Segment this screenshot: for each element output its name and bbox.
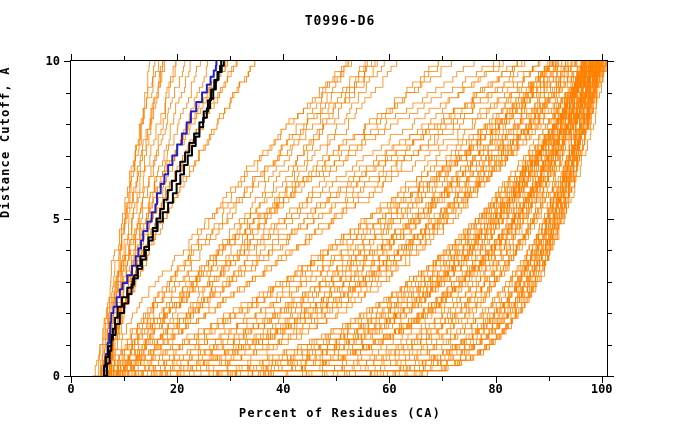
x-tick-label: 0 bbox=[67, 382, 74, 396]
y-tick-minor bbox=[607, 187, 612, 188]
x-tick-minor bbox=[124, 376, 125, 381]
x-tick-minor bbox=[549, 376, 550, 381]
y-tick-minor bbox=[66, 345, 71, 346]
x-tick-label: 40 bbox=[276, 382, 290, 396]
x-tick-label: 60 bbox=[382, 382, 396, 396]
x-tick-major bbox=[389, 54, 390, 61]
x-tick-label: 100 bbox=[591, 382, 613, 396]
y-tick-minor bbox=[607, 282, 612, 283]
y-tick-minor bbox=[66, 313, 71, 314]
x-tick-minor bbox=[124, 56, 125, 61]
y-tick-minor bbox=[607, 250, 612, 251]
x-axis-title: Percent of Residues (CA) bbox=[0, 406, 680, 420]
gdt-plot-page: T0996-D6 0510 020406080100 Distance Cuto… bbox=[0, 0, 680, 440]
y-tick-minor bbox=[66, 282, 71, 283]
plot-area: 0510 020406080100 bbox=[70, 60, 608, 377]
x-tick-major bbox=[602, 54, 603, 61]
y-tick-minor bbox=[66, 124, 71, 125]
x-tick-major bbox=[71, 54, 72, 61]
y-tick-major bbox=[64, 219, 71, 220]
y-tick-label: 0 bbox=[53, 369, 60, 383]
page-title: T0996-D6 bbox=[0, 14, 680, 29]
y-tick-major bbox=[607, 376, 614, 377]
y-tick-minor bbox=[66, 187, 71, 188]
x-tick-label: 80 bbox=[488, 382, 502, 396]
x-tick-label: 20 bbox=[170, 382, 184, 396]
x-tick-major bbox=[177, 54, 178, 61]
background-model-curves bbox=[92, 61, 607, 376]
x-tick-major bbox=[496, 54, 497, 61]
y-tick-minor bbox=[607, 93, 612, 94]
y-tick-major bbox=[607, 219, 614, 220]
y-tick-minor bbox=[607, 124, 612, 125]
x-tick-minor bbox=[442, 376, 443, 381]
x-tick-minor bbox=[442, 56, 443, 61]
y-tick-minor bbox=[607, 313, 612, 314]
y-tick-minor bbox=[66, 156, 71, 157]
x-tick-major bbox=[283, 54, 284, 61]
x-tick-minor bbox=[336, 376, 337, 381]
y-tick-minor bbox=[66, 250, 71, 251]
plot-canvas bbox=[71, 61, 607, 376]
y-tick-major bbox=[64, 61, 71, 62]
y-tick-label: 5 bbox=[53, 212, 60, 226]
y-tick-major bbox=[64, 376, 71, 377]
x-tick-minor bbox=[336, 56, 337, 61]
x-tick-minor bbox=[549, 56, 550, 61]
y-axis-title: Distance Cutoff, A bbox=[0, 66, 12, 218]
x-tick-minor bbox=[230, 376, 231, 381]
y-tick-label: 10 bbox=[46, 54, 60, 68]
y-tick-major bbox=[607, 61, 614, 62]
y-tick-minor bbox=[66, 93, 71, 94]
y-tick-minor bbox=[607, 156, 612, 157]
x-tick-minor bbox=[230, 56, 231, 61]
y-tick-minor bbox=[607, 345, 612, 346]
